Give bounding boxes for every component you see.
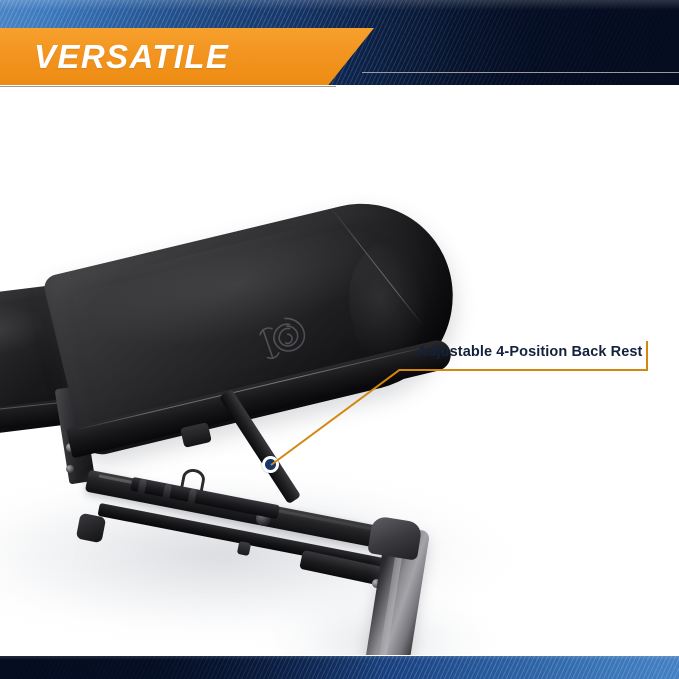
bracket-bolt-secondary <box>66 465 74 473</box>
product-photo <box>0 87 679 655</box>
versatile-banner: VERSATILE <box>0 28 374 85</box>
callout-label: Adjustable 4-Position Back Rest <box>417 345 643 360</box>
frame-knob <box>237 541 251 556</box>
front-foot <box>76 513 106 543</box>
divider-line-jog <box>332 72 366 87</box>
callout-leader-end-tick <box>646 341 648 371</box>
callout-leader-underline <box>399 369 648 371</box>
footer-gloss <box>0 656 679 660</box>
product-feature-card: VERSATILE <box>0 0 679 679</box>
stabilizer-end-cap-top <box>367 515 422 560</box>
header-gloss <box>0 0 679 10</box>
footer-band <box>0 656 679 679</box>
banner-title: VERSATILE <box>34 40 229 73</box>
divider-line-right <box>362 72 679 73</box>
